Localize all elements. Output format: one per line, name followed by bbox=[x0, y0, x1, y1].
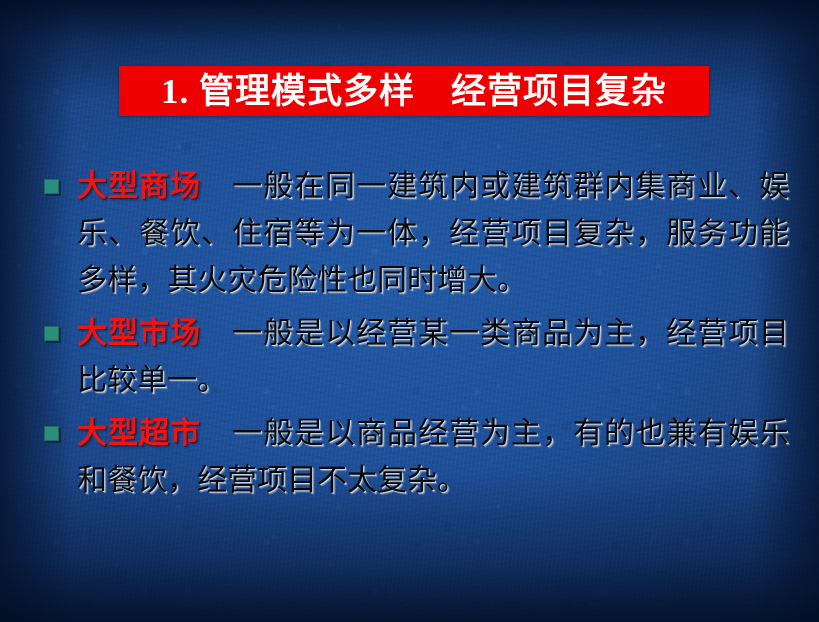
bullet-item: 大型商场 一般在同一建筑内或建筑群内集商业、娱乐、餐饮、住宿等为一体，经营项目复… bbox=[44, 163, 789, 304]
bullet-lead-term: 大型超市 bbox=[77, 417, 201, 450]
bullet-lead-term: 大型市场 bbox=[77, 317, 201, 350]
square-bullet-icon bbox=[44, 426, 59, 441]
bullet-text: 大型超市 一般是以商品经营为主，有的也兼有娱乐和餐饮，经营项目不太复杂。 bbox=[77, 410, 789, 504]
bullet-text: 大型市场 一般是以经营某一类商品为主，经营项目比较单一。 bbox=[77, 310, 789, 404]
square-bullet-icon bbox=[44, 326, 59, 341]
bullet-lead-term: 大型商场 bbox=[77, 170, 201, 203]
presentation-slide: 1. 管理模式多样 经营项目复杂 大型商场 一般在同一建筑内或建筑群内集商业、娱… bbox=[0, 0, 819, 622]
slide-title: 1. 管理模式多样 经营项目复杂 bbox=[161, 74, 667, 109]
slide-body: 大型商场 一般在同一建筑内或建筑群内集商业、娱乐、餐饮、住宿等为一体，经营项目复… bbox=[44, 163, 789, 510]
bullet-text: 大型商场 一般在同一建筑内或建筑群内集商业、娱乐、餐饮、住宿等为一体，经营项目复… bbox=[77, 163, 789, 304]
bullet-item: 大型市场 一般是以经营某一类商品为主，经营项目比较单一。 bbox=[44, 310, 789, 404]
square-bullet-icon bbox=[44, 179, 59, 194]
bullet-item: 大型超市 一般是以商品经营为主，有的也兼有娱乐和餐饮，经营项目不太复杂。 bbox=[44, 410, 789, 504]
title-banner: 1. 管理模式多样 经营项目复杂 bbox=[119, 66, 709, 116]
